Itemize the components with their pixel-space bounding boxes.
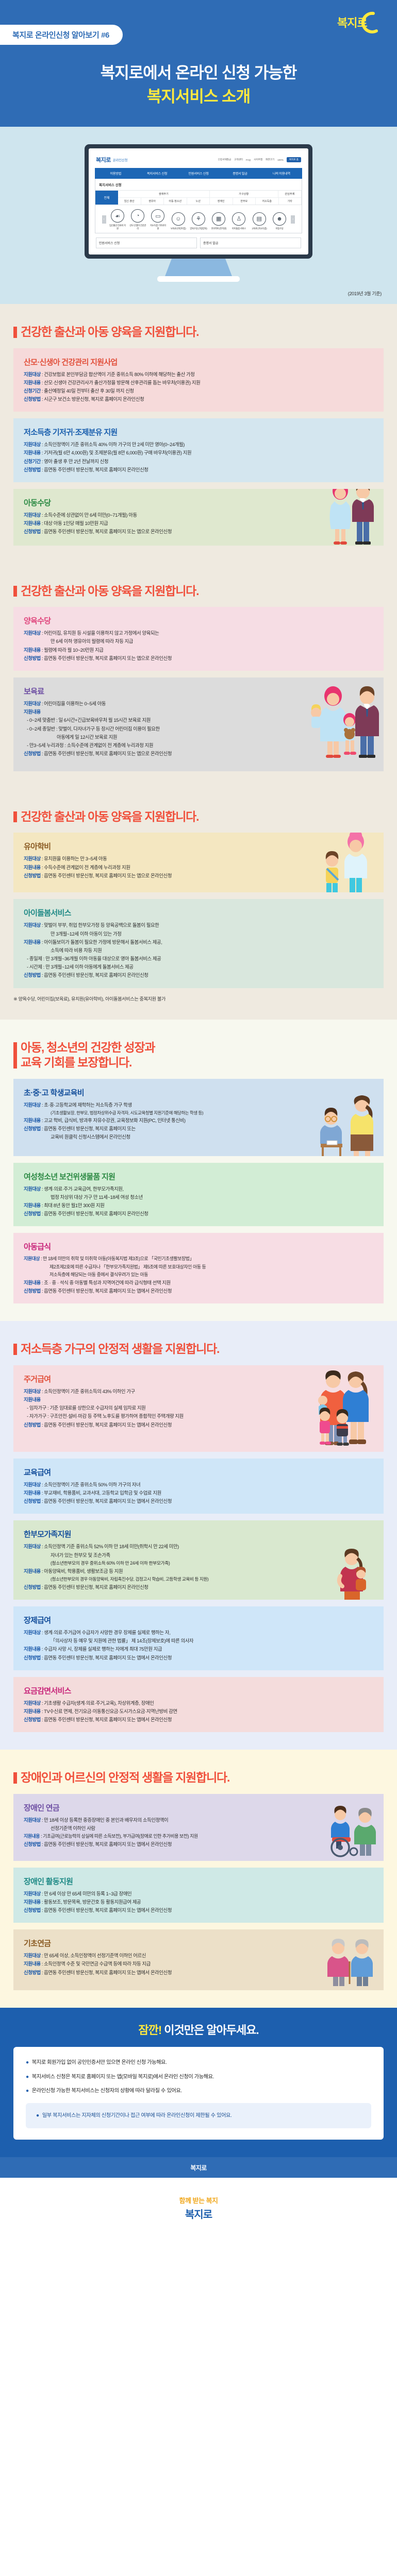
carousel-next-icon[interactable]: › [291, 215, 295, 224]
pregnancy-icon: ☙ [111, 209, 124, 223]
card-row: 신청방법:시군구 보건소 방문신청, 복지로 홈페이지 온라인신청 [24, 395, 374, 403]
end-line1: 함께 받는 복지 [0, 2195, 397, 2205]
card-title: 한부모가족지원 [24, 1529, 374, 1539]
card-row: 신청기간:영아 출생 후 만 2년 전날까지 신청 [24, 457, 374, 466]
util-cert[interactable]: 인증서재발급 [218, 158, 231, 161]
card-row: 지원내용:월령에 따라 월 10~20만원 지급 [24, 646, 374, 654]
childcare-icon: ☺ [172, 212, 185, 226]
section-birth-1: 건강한 출산과 아동 양육을 지원합니다. 산모·신생아 건강관리 지원사업 지… [0, 304, 397, 563]
card-row: 지원내용:수급자 사망 시, 장제를 실제로 행하는 자에게 최대 75만원 지… [24, 1645, 374, 1653]
site-main-nav[interactable]: 이용방법 복지서비스 신청 민원서비스 신청 증명서 발급 나의 이용내역 [95, 168, 302, 179]
subtab-child-youth[interactable]: 아동·청소년 [164, 198, 187, 205]
card-rows: 지원대상:초·중·고등학교에 재학하는 저소득층 가구 학생 (기초생활보장, … [24, 1101, 338, 1142]
tip-item: ●복지로 회원가입 없이 공인인증서만 있으면 온라인 신청 가능해요. [26, 2058, 371, 2067]
service-item[interactable]: ☺ 보육료 (어린이집) [170, 212, 187, 230]
card-row: 신청방법:읍면동 주민센터 방문신청, 복지로 홈페이지 또는 앱에서 온라인신… [24, 1716, 374, 1724]
card-row: 신청방법:읍면동 주민센터 방문신청, 복지로 홈페이지 또는 [24, 1125, 338, 1133]
service-card-disability-pension: 장애인 연금 지원대상:만 18세 이상 등록한 중증장애인 중 본인과 배우자… [13, 1794, 384, 1861]
card-row: - 임차가구 : 기준 임대료를 상한으로 수급자의 실제 임차료 지원 [24, 1404, 333, 1412]
util-sitemap[interactable]: 사이트맵 [254, 158, 262, 161]
card-row: 지원내용 [24, 708, 312, 716]
card-row: 저소득층에 해당되는 아동 중에서 결식우려가 있는 아동 [24, 1271, 374, 1279]
website-screenshot: 복지로 온라인신청 인증서재발급 고객센터 FAQ 사이트맵 화면크기 100%… [89, 148, 308, 255]
card-row: 지원대상:맞벌이 부부, 취업 한부모가정 등 양육공백으로 돌봄이 필요한 [24, 921, 374, 929]
card-rows: 지원대상:어린이집을 이용하는 0~5세 아동 지원내용 - 0~2세 맞춤반 … [24, 700, 312, 758]
card-row: 신청방법:읍면동 주민센터 방문신청, 복지로 홈페이지 또는 앱에서 온라인신… [24, 1497, 374, 1505]
preschool-icon: ▦ [212, 212, 225, 226]
group-household: 가구상황 [210, 191, 278, 197]
card-rows: 지원대상:생계·의료·주거·교육급여, 한부모가족지원, 법정 차상위 대상 가… [24, 1185, 374, 1218]
card-row: 지원대상:생계·의료·주거·교육급여, 한부모가족지원, [24, 1185, 374, 1193]
card-title: 산모·신생아 건강관리 지원사업 [24, 357, 374, 367]
service-card-idolbom: 아이돌봄서비스 지원대상:맞벌이 부부, 취업 한부모가정 등 양육공백으로 돌… [13, 899, 384, 988]
tab-group-row: 생애주기 가구상황 관심주제 [118, 191, 302, 198]
service-card-hygiene: 여성청소년 보건위생물품 지원 지원대상:생계·의료·주거·교육급여, 한부모가… [13, 1163, 384, 1227]
newborn-icon: ◔ [131, 209, 144, 223]
card-row: 신청방법:읍면동 주민센터 방문신청, 복지로 홈페이지 또는 앱에서 온라인신… [24, 1654, 374, 1662]
service-caption: 교육비 (저소득층) [251, 227, 268, 230]
card-row: 신청방법:읍면동 주민센터 방문신청, 복지로 홈페이지 또는 앱에서 온라인신… [24, 1421, 333, 1429]
bullet-icon: ● [26, 2073, 29, 2082]
tip-title-rest: 이것만은 알아두세요. [161, 2024, 259, 2037]
service-card-singleparent: 한부모가족지원 지원대상:소득인정액 기준 중위소득 52% 이하 만 18세 … [13, 1520, 384, 1600]
card-row: 지원대상:만 6세 이상 만 65세 미만의 등록 1~3급 장애인 [24, 1890, 374, 1898]
card-row: 신청방법:읍면동 주민센터 방문신청, 복지로 홈페이지 또는 앱으로 온라인신… [24, 528, 312, 536]
tip-title: 잠깐! 이것만은 알아두세요. [13, 2021, 384, 2038]
section-heading: 건강한 출산과 아동 양육을 지원합니다. [13, 325, 384, 340]
site-logo: 복지로 온라인신청 [96, 156, 127, 164]
service-card-basic-pension: 기초연금 지원대상:만 65세 이상, 소득인정액이 선정기준액 이하인 어르신… [13, 1929, 384, 1990]
infographic-page: 복지로 복지로 온라인신청 알아보기 #6 복지로에서 온라인 신청 가능한 복… [0, 0, 397, 2242]
card-row: 법정 차상위 대상 가구 만 11세~18세 여성 청소년 [24, 1193, 374, 1201]
service-card-diaper: 저소득층 기저귀·조제분유 지원 지원대상:소득인정액이 기준 중위소득 40%… [13, 418, 384, 482]
tab-groups: 생애주기 가구상황 관심주제 임신·출산 영유아 아동·청소년 노년 장애인 [118, 191, 302, 205]
service-item[interactable]: ♙ 아이돌봄 서비스 [230, 212, 247, 230]
tip-item: ●온라인신청 가능한 복지서비스는 신청자의 상황에 따라 달라질 수 있어요. [26, 2087, 371, 2096]
service-card-yangyuk: 양육수당 지원대상:어린이집, 유치원 등 시설을 이용하지 않고 가정에서 양… [13, 607, 384, 671]
service-card-fee-reduction: 요금감면서비스 지원대상:기초생활 수급자(생계·의료·주거,교육), 차상위계… [13, 1677, 384, 1733]
card-rows: 지원대상:어린이집, 유치원 등 시설을 이용하지 않고 가정에서 양육되는 만… [24, 629, 374, 663]
card-row: - 시간제 : 만 3개월~12세 이하 아동에게 돌봄서비스 제공 [24, 963, 374, 971]
tip-section: 잠깐! 이것만은 알아두세요. ●복지로 회원가입 없이 공인인증서만 있으면 … [0, 2008, 397, 2157]
card-row: 신청방법:읍면동 주민센터 방문신청, 복지로 홈페이지 온라인신청 [24, 466, 374, 474]
util-home-button[interactable]: 복지로 홈 [287, 157, 301, 162]
card-title: 요금감면서비스 [24, 1685, 374, 1696]
card-rows: 지원대상:기초생활 수급자(생계·의료·주거,교육), 차상위계층, 장애인 지… [24, 1699, 374, 1724]
section-note: ※ 양육수당, 어린이집(보육료), 유치원(유아학비), 아이돌봄서비스는 중… [13, 995, 384, 1002]
hero-section: 복지로 복지로 온라인신청 알아보기 #6 복지로에서 온라인 신청 가능한 복… [0, 0, 397, 127]
card-title: 장애인 연금 [24, 1802, 374, 1813]
service-caption: 임신출산 진료비 지원 [109, 224, 126, 230]
service-item[interactable]: ▦ 유아학비 (유치원) [210, 212, 227, 230]
footer-band: 복지로 [0, 2157, 397, 2178]
nav-welfare-apply[interactable]: 복지서비스 신청 [136, 168, 177, 179]
card-row: 지원내용 [24, 1396, 333, 1404]
card-row: 신청기간:출산예정일 40일 전부터 출산 후 30일 까지 신청 [24, 387, 374, 395]
subtab-pregnancy[interactable]: 임신·출산 [118, 198, 141, 205]
card-row: 지원내용:아이돌보미가 돌봄이 필요한 가정에 방문해서 돌봄서비스 제공, [24, 938, 374, 946]
card-row: 제2조제2호에 따른 수급자나 「한부모가족지원법」 제5조에 따른 보호대상자… [24, 1263, 374, 1271]
footer-logo: 복지로 [190, 2163, 207, 2172]
card-rows: 지원대상:만 18세 이상 등록한 중증장애인 중 본인과 배우자의 소득인정액… [24, 1816, 333, 1849]
card-rows: 지원대상:건강보험료 본인부담금 합산액이 기준 중위소득 80% 이하에 해당… [24, 370, 374, 404]
subtab-singleparent[interactable]: 한부모 [233, 198, 256, 205]
card-row: 소득에 따라 비용 차등 지원 [24, 946, 374, 955]
certificate-box[interactable]: 증명서 발급 [200, 238, 301, 248]
bullet-icon: ● [36, 2111, 39, 2121]
card-row: 지원내용:대상 아동 1인당 매월 10만원 지급 [24, 519, 312, 528]
card-row: 지원대상:어린이집, 유치원 등 시설을 이용하지 않고 가정에서 양육되는 [24, 629, 374, 637]
card-row: 지원내용:TV수신료 면제, 전기요금·이동통신요금·도시가스요금·지역난방비 … [24, 1707, 374, 1716]
card-row: 지원대상:기초생활 수급자(생계·의료·주거,교육), 차상위계층, 장애인 [24, 1699, 374, 1707]
card-title: 장제급여 [24, 1615, 374, 1625]
card-row: 만 6세 이하 영유아의 월령에 따라 차등 지급 [24, 637, 374, 646]
card-rows: 지원대상:만 65세 이상, 소득인정액이 선정기준액 이하인 어르신 지원내용… [24, 1952, 323, 1977]
card-title: 아동급식 [24, 1241, 374, 1252]
card-row: 교육비 원클릭 신청시스템에서 온라인신청 [24, 1133, 338, 1141]
card-row: 만 3개월~12세 이하 아동이 있는 가정 [24, 930, 374, 938]
util-faq[interactable]: FAQ [246, 159, 251, 161]
card-row: 선정기준액 이하인 사람 [24, 1824, 333, 1833]
card-row: 지원대상:소득인정액이 기준 중위소득 50% 이하 가구의 자녀 [24, 1481, 374, 1489]
panel-bottom-boxes: 민원서비스 신청 증명서 발급 [95, 233, 302, 248]
sitter-icon: ♙ [232, 212, 245, 226]
bullet-icon: ● [26, 2087, 29, 2096]
card-row: 지원대상:만 18세 이상 등록한 중증장애인 중 본인과 배우자의 소득인정액… [24, 1816, 333, 1824]
allowance-icon: ☻ [273, 212, 286, 226]
illustration-student-teacher [316, 1093, 381, 1156]
illustration-elderly-couple [323, 1937, 378, 1988]
card-row: 지원내용:수득수준에 관계없이 전 계층에 누리과정 지원 [24, 863, 328, 872]
illustration-mother-son [316, 833, 377, 892]
service-card-student-edu: 초·중·고 학생교육비 지원대상:초·중·고등학교에 재학하는 저소득층 가구 … [13, 1079, 384, 1156]
card-title: 저소득층 기저귀·조제분유 지원 [24, 427, 374, 437]
subtab-infant[interactable]: 영유아 [141, 198, 164, 205]
card-row: 신청방법:읍면동 주민센터 방문신청, 복지로 홈페이지 또는 앱에서 온라인신… [24, 1287, 374, 1295]
card-rows: 지원대상:소득인정액이 기준 중위소득 40% 이하 가구의 만 2세 미만 영… [24, 440, 374, 474]
card-row: - 만3~5세 누리과정 : 소득수준에 관계없이 전 계층에 누리과정 지원 [24, 741, 312, 750]
card-row: 지원대상:유치원을 이용하는 만 3~5세 아동 [24, 855, 328, 863]
card-row: (청소년한부모의 경우 아동양육비, 자립촉진수당, 검정고시 학습비, 고등학… [24, 1575, 333, 1583]
card-row: (청소년한부모의 경우 중위소득 60% 이하 만 24세 이하 한부모가족) [24, 1560, 333, 1567]
as-of-date: (2019년 3월 기준) [0, 282, 397, 299]
card-row: 신청방법:읍면동 주민센터 방문신청, 복지로 홈페이지 또는 앱으로 온라인신… [24, 872, 328, 880]
service-caption: 양육수당 (가정양육) [190, 227, 207, 230]
card-title: 아이돌봄서비스 [24, 907, 374, 918]
card-row: - 0~2세 종일반 : 맞벌이, 다자녀가구 등 장시간 어린이집 이용이 필… [24, 725, 312, 733]
card-rows: 지원대상:소득인정액이 기준 중위소득의 43% 이하인 가구 지원내용 - 임… [24, 1387, 333, 1429]
card-row: 지원대상:소득인정액 기준 중위소득 52% 이하 만 18세 미만(취학시 만… [24, 1543, 333, 1551]
card-row: 신청방법:읍면동 주민센터 방문신청, 복지로 홈페이지 또는 앱으로 온라인신… [24, 750, 312, 758]
card-row: 지원대상:초·중·고등학교에 재학하는 저소득층 가구 학생 [24, 1101, 338, 1109]
card-row: 지원대상:소득인정액이 기준 중위소득의 43% 이하인 가구 [24, 1387, 333, 1396]
service-card-boyukryo: 보육료 지원대상:어린이집을 이용하는 0~5세 아동 지원내용 - 0~2세 … [13, 677, 384, 771]
hero-title-line2: 복지서비스 소개 [0, 86, 397, 108]
subtab-disabled[interactable]: 장애인 [210, 198, 233, 205]
bullet-icon: ● [26, 2058, 29, 2067]
service-caption: 아이돌봄 서비스 [230, 227, 247, 230]
service-icon-carousel[interactable]: ‹ ☙ 임신출산 진료비 지원 ◔ 산모 신생아 건강관리 ▭ [95, 205, 302, 233]
card-row: - 종일제 : 만 3개월~36개월 이하 아동을 대상으로 영아 돌봄서비스 … [24, 955, 374, 963]
service-card-housing: 주거급여 지원대상:소득인정액이 기준 중위소득의 43% 이하인 가구 지원내… [13, 1365, 384, 1452]
site-logo-mark: 복지로 [96, 156, 111, 164]
card-rows: 지원대상:만 18세 미만의 취학 및 미취학 아동(아동복지법 제3조)으로 … [24, 1255, 374, 1295]
bokjiro-logo-icon: 복지로 [336, 9, 384, 36]
site-utility-nav[interactable]: 인증서재발급 고객센터 FAQ 사이트맵 화면크기 100% 복지로 홈 [218, 157, 301, 162]
subtab-senior[interactable]: 노년 [187, 198, 210, 205]
card-row: 지원내용:부교재비, 학용품비, 교과서대, 고등학교 입학금 및 수업료 지원 [24, 1489, 374, 1497]
service-card-yuahakbi: 유아학비 지원대상:유치원을 이용하는 만 3~5세 아동 지원내용:수득수준에… [13, 833, 384, 892]
card-row: 신청방법:읍면동 주민센터 방문신청, 복지로 홈페이지 온라인신청 [24, 1210, 374, 1218]
card-row: 아동에게 일 12시간 보육료 지원 [24, 733, 312, 741]
card-title: 여성청소년 보건위생물품 지원 [24, 1171, 374, 1182]
tip-note-item: ●일부 복지서비스는 지자체의 신청기간이나 접근 여부에 따라 온라인신청이 … [36, 2111, 361, 2121]
card-rows: 지원대상:만 6세 이상 만 65세 미만의 등록 1~3급 장애인 지원내용:… [24, 1890, 374, 1915]
service-item[interactable]: ☻ 아동수당 [271, 212, 288, 230]
card-row: 지원대상:건강보험료 본인부담금 합산액이 기준 중위소득 80% 이하에 해당… [24, 370, 374, 379]
service-card-education-benefit: 교육급여 지원대상:소득인정액이 기준 중위소득 50% 이하 가구의 자녀 지… [13, 1459, 384, 1514]
service-item[interactable]: ▭ 저소득층 기저귀지원 [149, 209, 167, 230]
illustration-family-five [312, 1368, 381, 1449]
card-rows: 지원대상:유치원을 이용하는 만 3~5세 아동 지원내용:수득수준에 관계없이… [24, 855, 328, 880]
tip-box-note: ●일부 복지서비스는 지자체의 신청기간이나 접근 여부에 따라 온라인신청이 … [26, 2103, 371, 2129]
tip-box: ●복지로 회원가입 없이 공인인증서만 있으면 온라인 신청 가능해요. ●복지… [13, 2047, 384, 2140]
site-header: 복지로 온라인신청 인증서재발급 고객센터 FAQ 사이트맵 화면크기 100%… [95, 154, 302, 168]
section-heading: 건강한 출산과 아동 양육을 지원합니다. [13, 809, 384, 824]
card-row: 지원내용:조 · 중 · 석식 중 아동별 특성과 지역여건에 따라 급식형태 … [24, 1279, 374, 1287]
card-row: 신청방법:읍면동 주민센터 방문신청, 복지로 홈페이지 또는 앱에서 온라인신… [24, 1906, 374, 1914]
card-row: 신청방법:읍면동 주민센터 방문신청, 복지로 홈페이지 또는 앱으로 온라인신… [24, 654, 374, 663]
util-zoom-label: 화면크기 [266, 158, 274, 161]
card-row: 지원내용:활동보조, 방문목욕, 방문간호 등 활동지원급여 제공 [24, 1898, 374, 1906]
nav-civil-apply[interactable]: 민원서비스 신청 [178, 168, 219, 179]
illustration-wheelchair [325, 1804, 378, 1858]
service-card-funeral: 장제급여 지원대상:생계·의료·주거급여 수급자가 사망한 경우 장제를 실제로… [13, 1606, 384, 1670]
monitor-base [157, 276, 240, 282]
service-card-sanmo: 산모·신생아 건강관리 지원사업 지원대상:건강보험료 본인부담금 합산액이 기… [13, 348, 384, 412]
stroller-icon: ⚘ [192, 212, 205, 226]
nav-my-history[interactable]: 나의 이용내역 [261, 168, 302, 179]
card-row: 지원내용:최대 8년 동안 월1만 300원 지원 [24, 1201, 374, 1210]
service-item[interactable]: ▤ 교육비 (저소득층) [251, 212, 268, 230]
section-heading: 저소득층 가구의 안정적 생활을 지원합니다. [13, 1342, 384, 1357]
tip-title-highlight: 잠깐! [138, 2024, 161, 2037]
card-row: 지원내용:기초급여(근로능력의 상실에 따른 소득보전), 부가급여(장애로 인… [24, 1833, 333, 1840]
section-birth-3: 건강한 출산과 아동 양육을 지원합니다. 유아학비 지원대상:유치원을 이용하… [0, 789, 397, 1020]
section-lowincome: 저소득층 가구의 안정적 생활을 지원합니다. 주거급여 지원대상:소득인정액이… [0, 1321, 397, 1750]
card-row: 지원내용:고교 학비, 급식비, 방과후 자유수강권, 교육정보화 지원(PC,… [24, 1116, 338, 1125]
card-row: 신청방법:읍면동 주민센터 방문신청, 복지로 홈페이지 온라인신청 [24, 1583, 333, 1591]
service-caption: 보육료 (어린이집) [170, 227, 187, 230]
hero-title-line1: 복지로에서 온라인 신청 가능한 [0, 62, 397, 84]
subtab-lowincome[interactable]: 저소득층 [256, 198, 279, 205]
nav-certificate[interactable]: 증명서 발급 [219, 168, 260, 179]
site-logo-sub: 온라인신청 [113, 157, 127, 162]
card-row: 지원내용:산모·신생아 건강관리사가 출산가정을 방문해 산후관리를 돕는 바우… [24, 379, 374, 387]
card-row: 자녀가 있는 한부모 및 조손가족 [24, 1551, 333, 1560]
card-row: 지원내용:소득인정액 수준 및 국민연금 수급액 등에 따라 차등 지급 [24, 1960, 323, 1968]
card-row: 신청방법:읍면동 주민센터 방문신청, 복지로 홈페이지 또는 앱에서 온라인신… [24, 1969, 323, 1977]
illustration-family [306, 684, 379, 760]
card-row: 지원대상:만 65세 이상, 소득인정액이 선정기준액 이하인 어르신 [24, 1952, 323, 1960]
tip-item: ●복지서비스 신청은 복지로 홈페이지 또는 앱(모바일 복지로)에서 온라인 … [26, 2073, 371, 2082]
service-card-activity-support: 장애인 활동지원 지원대상:만 6세 이상 만 65세 미만의 등록 1~3급 … [13, 1868, 384, 1923]
section-disabled-senior: 장애인과 어르신의 안정적 생활을 지원합니다. 장애인 연금 지원대상:만 1… [0, 1750, 397, 2008]
card-row: - 0~2세 맞춤반 : 일 6시간+긴급보육바우처 월 15시간 보육료 지원 [24, 716, 312, 724]
card-title: 교육급여 [24, 1467, 374, 1478]
card-row: 지원대상:소득수준에 상관없이 만 6세 미만(0~71개월) 아동 [24, 511, 312, 519]
group-lifecycle: 생애주기 [118, 191, 210, 197]
card-rows: 지원대상:생계·의료·주거급여 수급자가 사망한 경우 장제를 실제로 행하는 … [24, 1629, 374, 1662]
card-rows: 지원대상:소득인정액이 기준 중위소득 50% 이하 가구의 자녀 지원내용:부… [24, 1481, 374, 1506]
monitor-stand [165, 259, 232, 276]
service-caption: 저소득층 기저귀지원 [149, 224, 167, 230]
service-caption: 아동수당 [271, 227, 288, 230]
end-mark: 함께 받는 복지 복지로 [0, 2178, 397, 2242]
card-row: 지원대상:어린이집을 이용하는 0~5세 아동 [24, 700, 312, 708]
card-rows: 지원대상:소득수준에 상관없이 만 6세 미만(0~71개월) 아동 지원내용:… [24, 511, 312, 536]
card-row: 신청방법:읍면동 주민센터 방문신청, 복지로 홈페이지 온라인신청 [24, 971, 374, 979]
textbook-icon: ▤ [253, 212, 266, 226]
card-row: 지원내용:기저귀(월 6만 4,000원) 및 조제분유(월 8만 6,000원… [24, 449, 374, 457]
hero-title: 복지로에서 온라인 신청 가능한 복지서비스 소개 [0, 62, 397, 107]
card-title: 양육수당 [24, 615, 374, 626]
subtab-other[interactable]: 기타 [279, 198, 302, 205]
card-row: 지원대상:생계·의료·주거급여 수급자가 사망한 경우 장제를 실제로 행하는 … [24, 1629, 374, 1637]
card-row: (기초생활보장, 한부모, 법정차상위수급 자격자, 시도교육청별 지원기준에 … [24, 1109, 338, 1116]
service-item[interactable]: ◔ 산모 신생아 건강관리 [129, 209, 146, 230]
section-birth-2: 건강한 출산과 아동 양육을 지원합니다. 양육수당 지원대상:어린이집, 유치… [0, 563, 397, 789]
illustration-mother-baby [329, 1547, 376, 1600]
hero-badge: 복지로 온라인신청 알아보기 #6 [0, 25, 123, 45]
card-rows: 지원대상:소득인정액 기준 중위소득 52% 이하 만 18세 미만(취학시 만… [24, 1543, 333, 1591]
carousel-prev-icon[interactable]: ‹ [102, 215, 106, 224]
monitor-mockup: 복지로 온라인신청 인증서재발급 고객센터 FAQ 사이트맵 화면크기 100%… [85, 144, 312, 282]
card-title: 기초연금 [24, 1938, 374, 1948]
section-youth: 아동, 청소년의 건강한 성장과 교육 기회를 보장합니다. 초·중·고 학생교… [0, 1020, 397, 1321]
service-caption: 산모 신생아 건강관리 [129, 224, 146, 230]
util-support[interactable]: 고객센터 [234, 158, 243, 161]
card-row: 「의사상자 등 예우 및 지원에 관한 법률」 제 14조(장제보호)에 따른 … [24, 1637, 374, 1645]
end-line2: 복지로 [0, 2206, 397, 2221]
welfare-apply-panel: 복지서비스 신청 전체 생애주기 가구상황 관심주제 임신·출산 [95, 179, 302, 233]
card-row: - 자가가구 : 구조안전·설비·마감 등 주택 노후도를 평가하여 종합적인 … [24, 1412, 333, 1420]
screenshot-band: 복지로 온라인신청 인증서재발급 고객센터 FAQ 사이트맵 화면크기 100%… [0, 127, 397, 304]
nav-howto[interactable]: 이용방법 [95, 168, 136, 179]
section-heading: 건강한 출산과 아동 양육을 지원합니다. [13, 584, 384, 599]
section-heading: 아동, 청소년의 건강한 성장과 교육 기회를 보장합니다. [13, 1040, 384, 1071]
monitor-bezel: 복지로 온라인신청 인증서재발급 고객센터 FAQ 사이트맵 화면크기 100%… [85, 144, 312, 259]
card-title: 장애인 활동지원 [24, 1876, 374, 1887]
util-zoom-value[interactable]: 100% [277, 159, 284, 161]
tab-all[interactable]: 전체 [95, 191, 118, 205]
panel-title: 복지서비스 신청 [95, 179, 302, 191]
card-row: 지원대상:소득인정액이 기준 중위소득 40% 이하 가구의 만 2세 미만 영… [24, 440, 374, 449]
tab-sub-row[interactable]: 임신·출산 영유아 아동·청소년 노년 장애인 한부모 저소득층 기타 [118, 198, 302, 205]
card-row: 지원대상:만 18세 미만의 취학 및 미취학 아동(아동복지법 제3조)으로 … [24, 1255, 374, 1263]
panel-tabs[interactable]: 전체 생애주기 가구상황 관심주제 임신·출산 영유아 [95, 191, 302, 205]
card-row: 신청방법:읍면동 주민센터 방문신청, 복지로 홈페이지 또는 앱에서 온라인신… [24, 1840, 333, 1849]
service-caption: 유아학비 (유치원) [210, 227, 227, 230]
civil-service-box[interactable]: 민원서비스 신청 [96, 238, 197, 248]
illustration-couple [322, 489, 378, 546]
service-card-meal: 아동급식 지원대상:만 18세 미만의 취학 및 미취학 아동(아동복지법 제3… [13, 1233, 384, 1303]
card-row: 지원내용:아동양육비, 학용품비, 생활보조금 등 지원 [24, 1567, 333, 1575]
diaper-icon: ▭ [151, 209, 164, 223]
section-heading: 장애인과 어르신의 안정적 생활을 지원합니다. [13, 1770, 384, 1785]
card-rows: 지원대상:맞벌이 부부, 취업 한부모가정 등 양육공백으로 돌봄이 필요한 만… [24, 921, 374, 979]
service-item[interactable]: ⚘ 양육수당 (가정양육) [190, 212, 207, 230]
group-topic: 관심주제 [278, 191, 302, 197]
service-card-child-allowance: 아동수당 지원대상:소득수준에 상관없이 만 6세 미만(0~71개월) 아동 … [13, 489, 384, 546]
service-item[interactable]: ☙ 임신출산 진료비 지원 [109, 209, 126, 230]
